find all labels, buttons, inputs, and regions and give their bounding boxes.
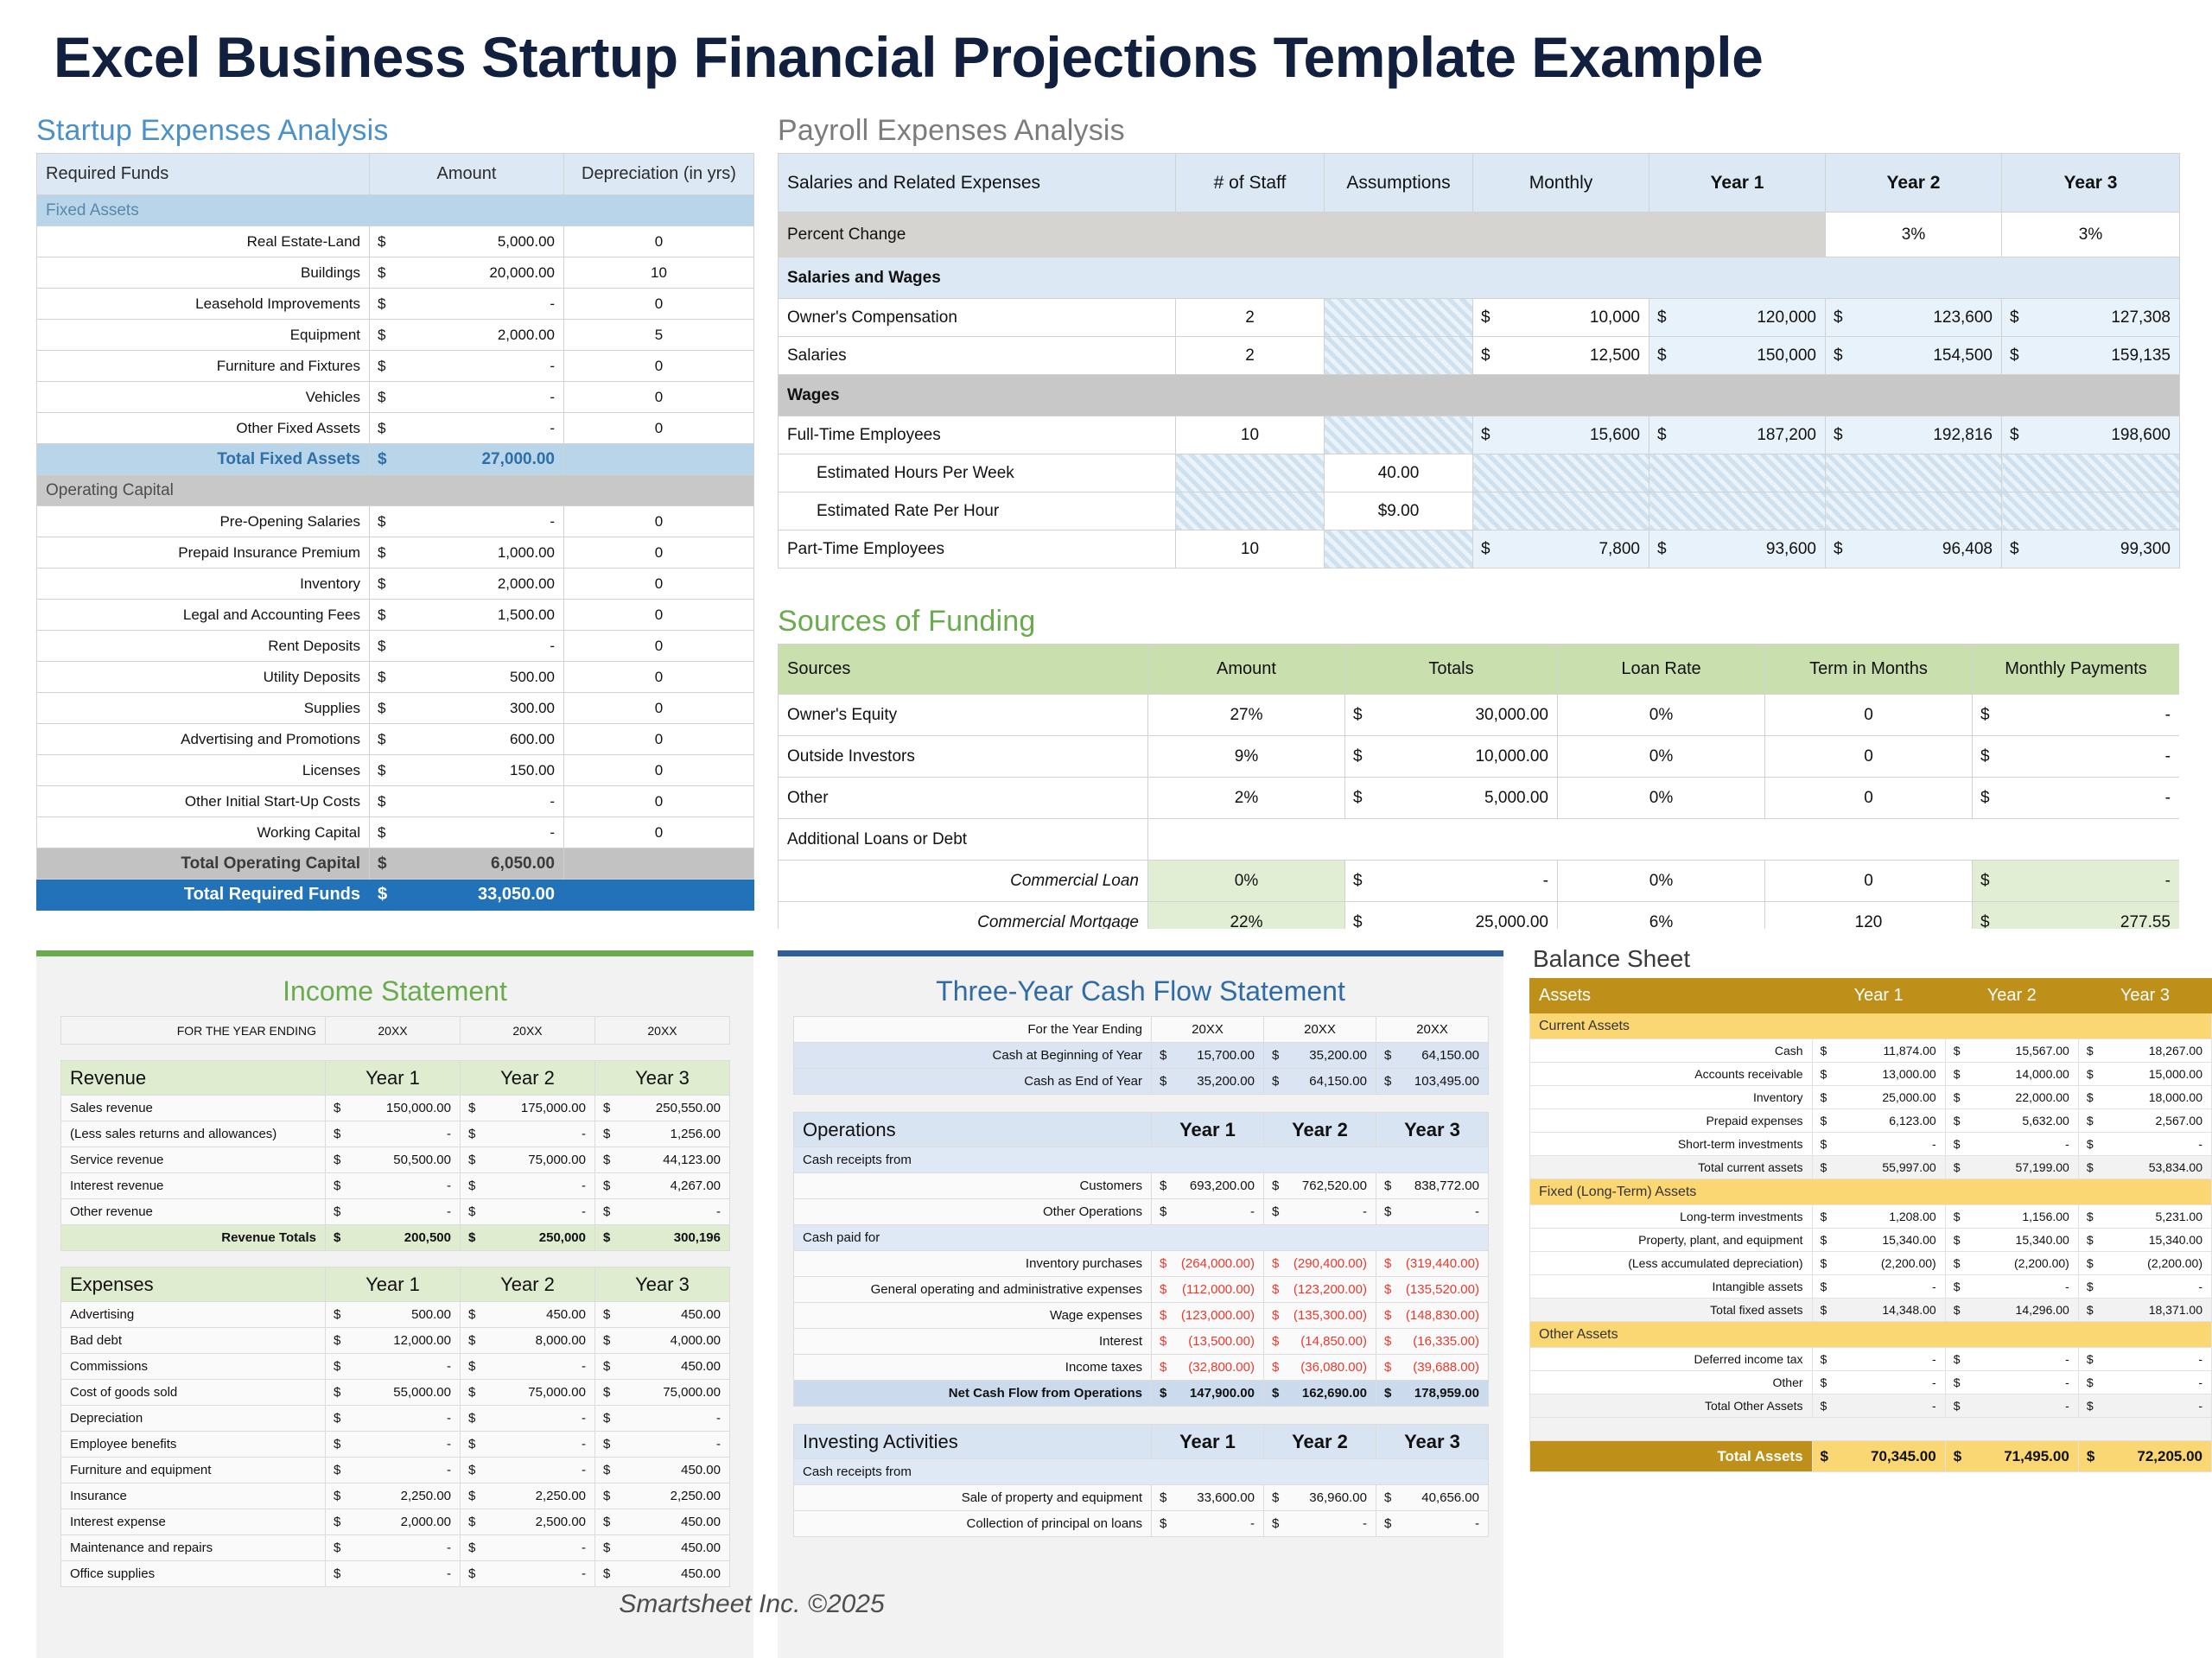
dollar-sign: $ — [603, 1540, 610, 1555]
depreciation-cell: 0 — [564, 413, 754, 444]
dollar-sign: $ — [1272, 1204, 1279, 1219]
amount-percent-cell: 9% — [1148, 736, 1345, 778]
dollar-sign: $ — [334, 1411, 340, 1426]
year3-cell: $75,000.00 — [595, 1380, 730, 1406]
amount-cell: $1,500.00 — [370, 600, 564, 631]
operations-column-header-1: Year 1 — [1152, 1113, 1264, 1147]
startup-row: Other Fixed Assets$-0 — [37, 413, 754, 444]
column-header-year-3: Year 3 — [2002, 154, 2180, 213]
dollar-sign: $ — [1657, 426, 1667, 445]
year1-cell: $120,000 — [1649, 299, 1826, 337]
income-expense-row: Maintenance and repairs$-$-$450.00 — [61, 1535, 730, 1561]
row-label: Inventory — [1530, 1086, 1813, 1109]
income-expense-row: Interest expense$2,000.00$2,500.00$450.0… — [61, 1509, 730, 1535]
year2-cell: $(14,850.00) — [1264, 1329, 1376, 1355]
row-label: Cash — [1530, 1039, 1813, 1063]
year1-cell: $6,123.00 — [1812, 1109, 1945, 1133]
row-label: Long-term investments — [1530, 1205, 1813, 1229]
dollar-sign: $ — [1384, 1256, 1391, 1271]
dollar-sign: $ — [1834, 308, 1843, 327]
percent-change-label: Percent Change — [779, 213, 1826, 257]
dollar-sign: $ — [1272, 1386, 1279, 1401]
year2-cell: $96,408 — [1826, 530, 2002, 569]
dollar-sign: $ — [1657, 346, 1667, 365]
total-label: Total Other Assets — [1530, 1394, 1813, 1418]
year1-cell: $- — [1812, 1275, 1945, 1299]
balance-row: Cash$11,874.00$15,567.00$18,267.00 — [1530, 1039, 2212, 1063]
dollar-sign: $ — [378, 638, 385, 655]
balance-row: Property, plant, and equipment$15,340.00… — [1530, 1229, 2212, 1252]
dollar-sign: $ — [1821, 1399, 1827, 1413]
row-label: Other Operations — [794, 1199, 1152, 1225]
column-header-monthly-payments: Monthly Payments — [1973, 645, 2180, 695]
dollar-sign: $ — [603, 1127, 610, 1141]
year1-cell-blank — [1649, 492, 1826, 530]
year2-cell: $175,000.00 — [461, 1096, 595, 1121]
year2-cell: $(2,200.00) — [1945, 1252, 2078, 1275]
year2-cell: $- — [1945, 1371, 2078, 1394]
year3-cell: $2,250.00 — [595, 1483, 730, 1509]
year3-cell: $450.00 — [595, 1561, 730, 1587]
row-label: Salaries — [779, 337, 1176, 375]
revenue-column-header-1: Year 1 — [326, 1061, 461, 1096]
percent-change-year3: 3% — [2002, 213, 2180, 257]
depreciation-cell: 0 — [564, 382, 754, 413]
dollar-sign: $ — [1272, 1074, 1279, 1089]
balance-row: Accounts receivable$13,000.00$14,000.00$… — [1530, 1063, 2212, 1086]
cashflow-accent-bar — [778, 950, 1503, 956]
income-revenue-row: (Less sales returns and allowances)$-$-$… — [61, 1121, 730, 1147]
dollar-sign: $ — [378, 327, 385, 344]
startup-total-required-funds-row: Total Required Funds$33,050.00 — [37, 880, 754, 911]
cashflow-row: Other Operations$-$-$- — [794, 1199, 1489, 1225]
cash-receipts-from-label: Cash receipts from — [794, 1459, 1489, 1485]
cashflow-investing-row: Sale of property and equipment$33,600.00… — [794, 1485, 1489, 1511]
row-label: Inventory — [37, 569, 370, 600]
row-label: Interest revenue — [61, 1173, 326, 1199]
income-revenue-row: Interest revenue$-$-$4,267.00 — [61, 1173, 730, 1199]
totals-cell: $5,000.00 — [1345, 778, 1558, 819]
monthly-payment-cell: $- — [1973, 695, 2180, 736]
loan-rate-cell: 0% — [1558, 736, 1765, 778]
row-label: Cash as End of Year — [794, 1069, 1152, 1095]
dollar-sign: $ — [2087, 1233, 2094, 1247]
row-label: Outside Investors — [779, 736, 1148, 778]
cashflow-investing-receipts-label-row: Cash receipts from — [794, 1459, 1489, 1485]
column-header-year-3: Year 3 — [2078, 979, 2211, 1013]
balance-row: Inventory$25,000.00$22,000.00$18,000.00 — [1530, 1086, 2212, 1109]
year3-cell: $450.00 — [595, 1354, 730, 1380]
year3-cell: $- — [595, 1406, 730, 1432]
sources-of-funding-table: SourcesAmountTotalsLoan RateTerm in Mont… — [778, 644, 2179, 929]
dollar-sign: $ — [603, 1204, 610, 1219]
term-cell: 0 — [1765, 695, 1973, 736]
year2-cell: $- — [1945, 1133, 2078, 1156]
payroll-row: Owner's Compensation2$10,000$120,000$123… — [779, 299, 2180, 337]
dollar-sign: $ — [468, 1127, 475, 1141]
dollar-sign: $ — [468, 1153, 475, 1167]
income-revenue-table: RevenueYear 1Year 2Year 3Sales revenue$1… — [60, 1060, 730, 1251]
monthly-payment-cell: $- — [1973, 736, 2180, 778]
year3-total: $72,205.00 — [2078, 1441, 2211, 1472]
year3-cell: $99,300 — [2002, 530, 2180, 569]
dollar-sign: $ — [1384, 1074, 1391, 1089]
row-label: Part-Time Employees — [779, 530, 1176, 569]
dollar-sign: $ — [1821, 1233, 1827, 1247]
payroll-expenses-table: Salaries and Related Expenses# of StaffA… — [778, 153, 2180, 569]
year-header-1: 20XX — [1152, 1017, 1264, 1043]
year1-cell: $- — [326, 1121, 461, 1147]
cash-receipts-from-label: Cash receipts from — [794, 1147, 1489, 1173]
monthly-payment-cell: $- — [1973, 778, 2180, 819]
income-expenses-table: ExpensesYear 1Year 2Year 3Advertising$50… — [60, 1267, 730, 1587]
row-label: Interest expense — [61, 1509, 326, 1535]
dollar-sign: $ — [334, 1540, 340, 1555]
dollar-sign: $ — [2087, 1210, 2094, 1223]
year3-cell: $- — [2078, 1371, 2211, 1394]
year2-cell: $762,520.00 — [1264, 1173, 1376, 1199]
template-page: Excel Business Startup Financial Project… — [0, 0, 2212, 1658]
column-header-amount: Amount — [370, 154, 564, 195]
column-header-assumptions: Assumptions — [1325, 154, 1473, 213]
operations-column-header-3: Year 3 — [1376, 1113, 1489, 1147]
year3-cell: $250,550.00 — [595, 1096, 730, 1121]
percent-change-year2: 3% — [1826, 213, 2002, 257]
column-header-assets: Assets — [1530, 979, 1813, 1013]
dollar-sign: $ — [1272, 1178, 1279, 1193]
dollar-sign: $ — [334, 1515, 340, 1529]
year-header-1: 20XX — [326, 1017, 461, 1045]
amount-cell: $- — [370, 817, 564, 848]
row-label: Full-Time Employees — [779, 416, 1176, 454]
year1-cell: $25,000.00 — [1812, 1086, 1945, 1109]
startup-expenses-heading: Startup Expenses Analysis — [36, 114, 753, 148]
dollar-sign: $ — [1481, 540, 1491, 559]
dollar-sign: $ — [468, 1540, 475, 1555]
dollar-sign: $ — [334, 1437, 340, 1452]
startup-row: Legal and Accounting Fees$1,500.000 — [37, 600, 754, 631]
row-label: Other — [779, 778, 1148, 819]
row-label: Rent Deposits — [37, 631, 370, 662]
total-assets-label: Total Assets — [1530, 1441, 1813, 1472]
income-expenses-header-row: ExpensesYear 1Year 2Year 3 — [61, 1267, 730, 1302]
row-label: Other — [1530, 1371, 1813, 1394]
year1-total: $147,900.00 — [1152, 1381, 1264, 1407]
dollar-sign: $ — [603, 1101, 610, 1115]
year1-cell: $- — [326, 1354, 461, 1380]
year2-total: $71,495.00 — [1945, 1441, 2078, 1472]
investing-column-header-0: Investing Activities — [794, 1425, 1152, 1459]
year3-total: $18,371.00 — [2078, 1299, 2211, 1322]
amount-percent-cell: 2% — [1148, 778, 1345, 819]
payroll-expenses-section: Payroll Expenses Analysis Salaries and R… — [778, 114, 2179, 569]
year1-cell: $- — [326, 1173, 461, 1199]
income-expense-row: Bad debt$12,000.00$8,000.00$4,000.00 — [61, 1328, 730, 1354]
dollar-sign: $ — [1272, 1256, 1279, 1271]
balance-row: (Less accumulated depreciation)$(2,200.0… — [1530, 1252, 2212, 1275]
dollar-sign: $ — [378, 575, 385, 593]
dollar-sign: $ — [1954, 1160, 1961, 1174]
dollar-sign: $ — [2010, 308, 2019, 327]
year3-cell: $450.00 — [595, 1458, 730, 1483]
investing-column-header-2: Year 2 — [1264, 1425, 1376, 1459]
year2-cell: $2,500.00 — [461, 1509, 595, 1535]
totals-cell: $10,000.00 — [1345, 736, 1558, 778]
year1-cell: $(2,200.00) — [1812, 1252, 1945, 1275]
dollar-sign: $ — [1821, 1303, 1827, 1317]
dollar-sign: $ — [2010, 540, 2019, 559]
dollar-sign: $ — [603, 1566, 610, 1581]
row-label: Commissions — [61, 1354, 326, 1380]
year1-cell: $- — [326, 1432, 461, 1458]
balance-sheet-card: Balance Sheet AssetsYear 1Year 2Year 3Cu… — [1529, 942, 2212, 1658]
monthly-cell: $7,800 — [1473, 530, 1649, 569]
dollar-sign: $ — [1160, 1308, 1166, 1323]
dollar-sign: $ — [334, 1385, 340, 1400]
cashflow-operations-table: OperationsYear 1Year 2Year 3Cash receipt… — [793, 1112, 1489, 1407]
row-label: (Less accumulated depreciation) — [1530, 1252, 1813, 1275]
depreciation-cell: 0 — [564, 226, 754, 257]
income-revenue-row: Other revenue$-$-$- — [61, 1199, 730, 1225]
revenue-totals-label: Revenue Totals — [61, 1225, 326, 1251]
dollar-sign: $ — [378, 233, 385, 251]
dollar-sign: $ — [1160, 1074, 1166, 1089]
dollar-sign: $ — [1384, 1048, 1391, 1063]
investing-column-header-1: Year 1 — [1152, 1425, 1264, 1459]
payroll-row: Salaries2$12,500$150,000$154,500$159,135 — [779, 337, 2180, 375]
dollar-sign: $ — [1353, 872, 1363, 891]
staff-cell-blank — [1176, 454, 1325, 492]
year3-cell: $159,135 — [2002, 337, 2180, 375]
row-label: Commercial Mortgage — [779, 902, 1148, 930]
dollar-sign: $ — [1954, 1210, 1961, 1223]
cashflow-net-operations-row: Net Cash Flow from Operations$147,900.00… — [794, 1381, 1489, 1407]
dollar-sign: $ — [1272, 1048, 1279, 1063]
year3-cell: $18,000.00 — [2078, 1086, 2211, 1109]
depreciation-cell: 0 — [564, 631, 754, 662]
dollar-sign: $ — [603, 1359, 610, 1374]
year3-cell: $450.00 — [595, 1302, 730, 1328]
column-header-year-2: Year 2 — [1945, 979, 2078, 1013]
dollar-sign: $ — [1821, 1280, 1827, 1293]
dollar-sign: $ — [1821, 1114, 1827, 1128]
term-cell: 120 — [1765, 902, 1973, 930]
year1-total: $14,348.00 — [1812, 1299, 1945, 1322]
revenue-column-header-2: Year 2 — [461, 1061, 595, 1096]
income-year-ending-row: FOR THE YEAR ENDING20XX20XX20XX — [61, 1017, 730, 1045]
column-header-year-2: Year 2 — [1826, 154, 2002, 213]
startup-row: Working Capital$-0 — [37, 817, 754, 848]
balance-sheet-title: Balance Sheet — [1529, 942, 2212, 978]
year2-cell: $- — [461, 1173, 595, 1199]
year3-cell: $(319,440.00) — [1376, 1251, 1489, 1277]
column-header--of-staff: # of Staff — [1176, 154, 1325, 213]
amount-cell: $- — [370, 351, 564, 382]
row-label: Real Estate-Land — [37, 226, 370, 257]
dollar-sign: $ — [378, 854, 387, 873]
row-label: Supplies — [37, 693, 370, 724]
dollar-sign: $ — [1821, 1067, 1827, 1081]
income-expense-row: Cost of goods sold$55,000.00$75,000.00$7… — [61, 1380, 730, 1406]
startup-row: Utility Deposits$500.000 — [37, 662, 754, 693]
dollar-sign: $ — [468, 1515, 475, 1529]
funding-row: Owner's Equity27%$30,000.000%0$- — [779, 695, 2180, 736]
balance-total-assets-row: Total Assets$70,345.00$71,495.00$72,205.… — [1530, 1441, 2212, 1472]
year3-cell: $103,495.00 — [1376, 1069, 1489, 1095]
dollar-sign: $ — [1980, 913, 1990, 930]
startup-row: Equipment$2,000.005 — [37, 320, 754, 351]
dollar-sign: $ — [378, 264, 385, 282]
total-required-funds-label: Total Required Funds — [37, 880, 370, 911]
year2-cell: $- — [461, 1199, 595, 1225]
year1-cell: $15,340.00 — [1812, 1229, 1945, 1252]
year2-cell: $(135,300.00) — [1264, 1303, 1376, 1329]
footer-copyright: Smartsheet Inc. ©2025 — [0, 1590, 1503, 1619]
year1-cell: $50,500.00 — [326, 1147, 461, 1173]
startup-group-operating-capital: Operating Capital — [37, 475, 754, 506]
dollar-sign: $ — [603, 1333, 610, 1348]
year1-cell: $11,874.00 — [1812, 1039, 1945, 1063]
startup-header-row: Required FundsAmountDepreciation (in yrs… — [37, 154, 754, 195]
row-label: Short-term investments — [1530, 1133, 1813, 1156]
total-required-funds-amount: $33,050.00 — [370, 880, 564, 911]
balance-total-fixed-assets-row: Total fixed assets$14,348.00$14,296.00$1… — [1530, 1299, 2212, 1322]
year3-cell: $40,656.00 — [1376, 1485, 1489, 1511]
dollar-sign: $ — [1954, 1233, 1961, 1247]
monthly-cell-blank — [1473, 492, 1649, 530]
income-revenue-row: Service revenue$50,500.00$75,000.00$44,1… — [61, 1147, 730, 1173]
amount-cell: $500.00 — [370, 662, 564, 693]
year2-cell: $(123,200.00) — [1264, 1277, 1376, 1303]
row-label: Insurance — [61, 1483, 326, 1509]
total-fixed-assets-amount: $27,000.00 — [370, 444, 564, 475]
cashflow-year-ending-row: For the Year Ending20XX20XX20XX — [794, 1017, 1489, 1043]
monthly-cell-blank — [1473, 454, 1649, 492]
cashflow-row: General operating and administrative exp… — [794, 1277, 1489, 1303]
dollar-sign: $ — [1384, 1516, 1391, 1531]
balance-group-fixed-assets: Fixed (Long-Term) Assets — [1530, 1179, 2212, 1205]
dollar-sign: $ — [1353, 913, 1363, 930]
dollar-sign: $ — [468, 1204, 475, 1219]
balance-row: Short-term investments$-$-$- — [1530, 1133, 2212, 1156]
dollar-sign: $ — [2087, 1352, 2094, 1366]
dollar-sign: $ — [1954, 1114, 1961, 1128]
dollar-sign: $ — [1353, 747, 1363, 766]
row-label: Advertising — [61, 1302, 326, 1328]
dollar-sign: $ — [1980, 747, 1990, 766]
dollar-sign: $ — [2087, 1160, 2094, 1174]
year2-total: $250,000 — [461, 1225, 595, 1251]
total-fixed-assets-label: Total Fixed Assets — [37, 444, 370, 475]
balance-total-other-assets-row: Total Other Assets$-$-$- — [1530, 1394, 2212, 1418]
dollar-sign: $ — [1272, 1308, 1279, 1323]
cashflow-row: Interest$(13,500.00)$(14,850.00)$(16,335… — [794, 1329, 1489, 1355]
dollar-sign: $ — [1353, 789, 1363, 808]
staff-count-cell: 10 — [1176, 416, 1325, 454]
year3-cell: $15,340.00 — [2078, 1229, 2211, 1252]
year-header-3: 20XX — [1376, 1017, 1489, 1043]
dollar-sign: $ — [1272, 1282, 1279, 1297]
startup-row: Advertising and Promotions$600.000 — [37, 724, 754, 755]
column-header-required-funds: Required Funds — [37, 154, 370, 195]
dollar-sign: $ — [378, 450, 387, 469]
income-expense-row: Insurance$2,250.00$2,250.00$2,250.00 — [61, 1483, 730, 1509]
year3-cell: $198,600 — [2002, 416, 2180, 454]
dollar-sign: $ — [603, 1437, 610, 1452]
group-label-salaries-and-wages: Salaries and Wages — [779, 257, 2180, 299]
amount-percent-cell: 22% — [1148, 902, 1345, 930]
year1-total: $70,345.00 — [1812, 1441, 1945, 1472]
cashflow-investing-header-row: Investing ActivitiesYear 1Year 2Year 3 — [794, 1425, 1489, 1459]
amount-cell: $1,000.00 — [370, 537, 564, 569]
row-label: Bad debt — [61, 1328, 326, 1354]
depreciation-cell: 0 — [564, 600, 754, 631]
row-label: Income taxes — [794, 1355, 1152, 1381]
year3-cell: $838,772.00 — [1376, 1173, 1489, 1199]
balance-header-row: AssetsYear 1Year 2Year 3 — [1530, 979, 2212, 1013]
dollar-sign: $ — [378, 669, 385, 686]
year2-cell: $36,960.00 — [1264, 1485, 1376, 1511]
subheading-additional-loans: Additional Loans or Debt — [779, 819, 1148, 861]
startup-group-fixed-assets: Fixed Assets — [37, 195, 754, 226]
assumption-cell: $9.00 — [1325, 492, 1473, 530]
dollar-sign: $ — [1160, 1204, 1166, 1219]
monthly-cell: $12,500 — [1473, 337, 1649, 375]
year1-cell: $(123,000.00) — [1152, 1303, 1264, 1329]
year3-total: $53,834.00 — [2078, 1156, 2211, 1179]
startup-row: Rent Deposits$-0 — [37, 631, 754, 662]
dollar-sign: $ — [1954, 1044, 1961, 1058]
year2-total: $162,690.00 — [1264, 1381, 1376, 1407]
dollar-sign: $ — [2087, 1448, 2094, 1465]
year2-cell: $- — [1945, 1348, 2078, 1371]
staff-count-cell: 10 — [1176, 530, 1325, 569]
row-label: Working Capital — [37, 817, 370, 848]
startup-row: Inventory$2,000.000 — [37, 569, 754, 600]
amount-cell: $5,000.00 — [370, 226, 564, 257]
dollar-sign: $ — [2087, 1399, 2094, 1413]
dollar-sign: $ — [334, 1230, 340, 1245]
monthly-payment-cell: $- — [1973, 861, 2180, 902]
depreciation-cell: 0 — [564, 569, 754, 600]
year3-cell: $44,123.00 — [595, 1147, 730, 1173]
row-label: Equipment — [37, 320, 370, 351]
expenses-column-header-3: Year 3 — [595, 1267, 730, 1302]
year1-cell: $- — [1812, 1371, 1945, 1394]
year3-cell: $- — [2078, 1348, 2211, 1371]
depreciation-cell: 0 — [564, 817, 754, 848]
dollar-sign: $ — [1160, 1386, 1166, 1401]
year1-cell-blank — [1649, 454, 1826, 492]
income-expense-row: Furniture and equipment$-$-$450.00 — [61, 1458, 730, 1483]
dollar-sign: $ — [603, 1307, 610, 1322]
row-label: Buildings — [37, 257, 370, 289]
operations-column-header-2: Year 2 — [1264, 1113, 1376, 1147]
year3-cell-blank — [2002, 454, 2180, 492]
row-label: Vehicles — [37, 382, 370, 413]
funding-loan-row: Commercial Loan0%$-0%0$- — [779, 861, 2180, 902]
year3-total: $- — [2078, 1394, 2211, 1418]
year3-cell: $(16,335.00) — [1376, 1329, 1489, 1355]
year3-cell: $2,567.00 — [2078, 1109, 2211, 1133]
startup-row: Other Initial Start-Up Costs$-0 — [37, 786, 754, 817]
dollar-sign: $ — [1980, 872, 1990, 891]
year3-cell: $450.00 — [595, 1535, 730, 1561]
depreciation-cell: 10 — [564, 257, 754, 289]
dollar-sign: $ — [378, 389, 385, 406]
column-header-year-1: Year 1 — [1649, 154, 1826, 213]
revenue-column-header-3: Year 3 — [595, 1061, 730, 1096]
